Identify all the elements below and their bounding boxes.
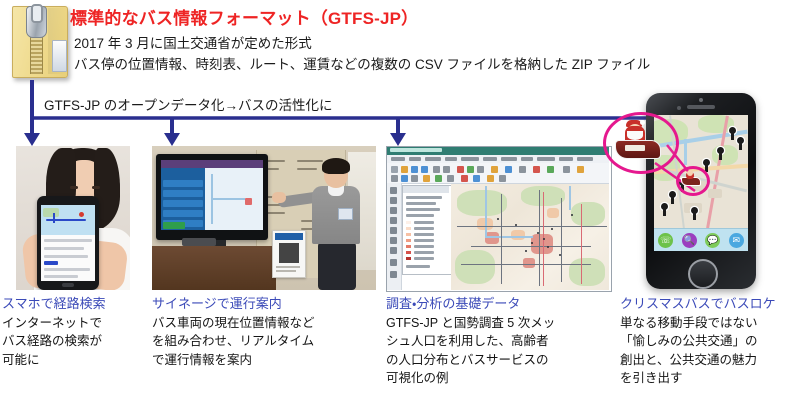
zip-folder-tab <box>52 40 67 72</box>
screenshot-gis-map-application <box>386 146 612 292</box>
subtitle-line-2: バス停の位置情報、時刻表、ルート、運賃などの複数の CSV ファイルを格納した … <box>74 53 650 73</box>
result-row <box>44 247 84 250</box>
subtitle-line-1: 2017 年 3 月に国土交通省が定めた形式 <box>74 32 312 52</box>
caption-4-heading: クリスマスバスでバスロケ <box>620 296 800 312</box>
caption-4: クリスマスバスでバスロケ 単なる移動手段ではない 「愉しみの公共交通」の 創出と… <box>620 296 800 387</box>
santa-hat-pompom <box>640 120 645 125</box>
front-camera-icon <box>699 98 703 102</box>
wooden-cabinet <box>152 246 276 290</box>
gis-map-canvas <box>451 184 609 290</box>
eye-right <box>92 186 100 189</box>
signage-departure-list <box>161 168 205 230</box>
caption-2: サイネージで運行案内 バス車両の現在位置情報など を組み合わせ、リアルタイム で… <box>152 296 382 369</box>
signage-screen <box>161 160 263 230</box>
home-button[interactable] <box>688 259 718 289</box>
caption-3-body: GTFS-JP と国勢調査 5 次メッ シュ人口を利用した、高齢者 の人口分布と… <box>386 314 622 387</box>
bus-stop-pin <box>668 191 677 204</box>
staff-hair <box>322 158 350 174</box>
earpiece-speaker <box>687 105 715 109</box>
sensor-dot <box>677 106 681 110</box>
map-green-area <box>43 208 59 217</box>
caption-3-heading: 調査・分析の基礎データ <box>386 296 622 312</box>
caption-1-heading: スマホで経路検索 <box>2 296 148 312</box>
brochure-stand <box>272 230 306 278</box>
mail-app-icon[interactable]: ✉ <box>729 233 744 248</box>
signage-bus-marker <box>245 198 252 205</box>
phone-app-icon[interactable]: ☏ <box>658 233 673 248</box>
search-app-icon[interactable]: 🔍 <box>682 233 697 248</box>
bus-stop-pin <box>690 207 699 220</box>
caption-1-body: インターネットで バス経路の検索が 可能に <box>2 314 148 368</box>
christmas-bus-map-marker <box>681 170 699 185</box>
app-dock: ☏ 🔍 💬 ✉ <box>654 228 748 251</box>
held-smartphone <box>37 196 99 290</box>
flow-label: GTFS-JP のオープンデータ化→バスの活性化に <box>44 94 332 114</box>
result-row <box>44 239 92 242</box>
caption-2-heading: サイネージで運行案内 <box>152 296 382 312</box>
gis-layers-panel <box>402 185 452 275</box>
destination-pin <box>79 212 84 217</box>
bus-stop-pin <box>736 137 745 150</box>
gis-title-bar <box>387 147 609 155</box>
sleigh-label <box>625 145 645 151</box>
bus-stop-pin <box>660 203 669 216</box>
keyboard <box>182 238 216 246</box>
phone-home-bar <box>62 283 74 287</box>
staff-hand <box>272 192 286 203</box>
zip-pull-tab <box>31 4 43 23</box>
signage-header-bar <box>161 160 263 168</box>
eye-left <box>70 186 78 189</box>
gis-tool-sidebar <box>387 183 402 290</box>
staff-legs <box>318 242 356 290</box>
photo-digital-signage-display <box>152 146 376 290</box>
result-row <box>44 275 78 278</box>
signage-logo <box>163 222 185 229</box>
staff-id-badge <box>338 208 353 220</box>
santa-beard <box>627 131 643 140</box>
bus-stop-pin <box>716 147 725 160</box>
caption-1: スマホで経路検索 インターネットで バス経路の検索が 可能に <box>2 296 148 369</box>
gis-toolbar <box>387 163 609 184</box>
route-line <box>46 219 86 221</box>
signage-map-area <box>205 168 263 230</box>
christmas-bus-santa-icon <box>613 120 661 160</box>
infographic-canvas: 標準的なバス情報フォーマット（GTFS-JP） 2017 年 3 月に国土交通省… <box>0 0 800 405</box>
result-progress-bar <box>44 261 58 265</box>
caption-3: 調査・分析の基礎データ GTFS-JP と国勢調査 5 次メッ シュ人口を利用し… <box>386 296 622 387</box>
route-line-branch <box>53 213 55 223</box>
zip-folder-icon <box>8 2 74 82</box>
message-app-icon[interactable]: 💬 <box>705 233 720 248</box>
route-map-area <box>41 205 95 235</box>
result-row <box>44 268 90 271</box>
smartphone-screen <box>41 205 95 281</box>
page-title: 標準的なバス情報フォーマット（GTFS-JP） <box>70 4 418 29</box>
result-row <box>44 255 88 258</box>
signage-monitor <box>156 154 268 240</box>
caption-4-body: 単なる移動手段ではない 「愉しみの公共交通」の 創出と、公共交通の魅力 を引き出… <box>620 314 800 387</box>
caption-2-body: バス車両の現在位置情報など を組み合わせ、リアルタイム で運行情報を案内 <box>152 314 382 368</box>
photo-woman-with-smartphone <box>16 146 130 290</box>
